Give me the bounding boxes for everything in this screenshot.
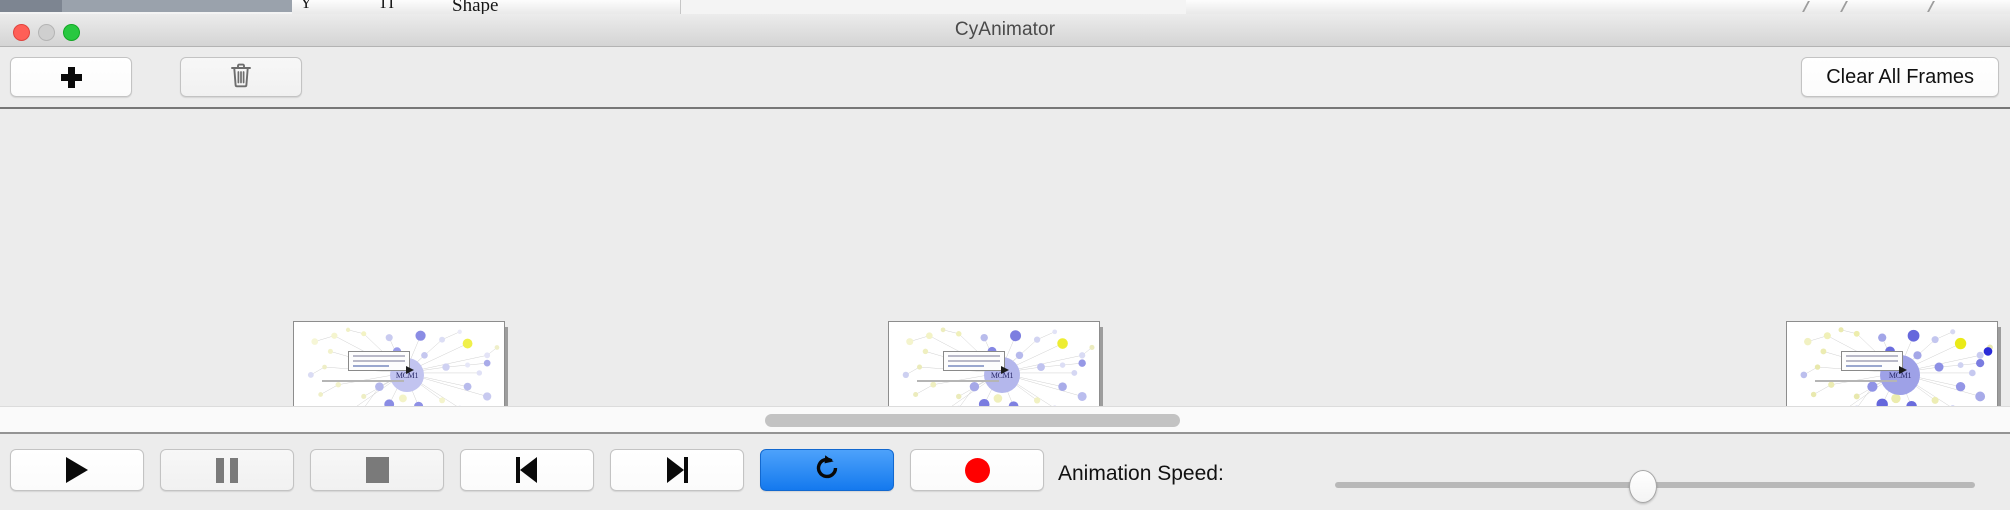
loop-icon: [812, 453, 842, 488]
background-toolbar-dark-2: [62, 0, 292, 12]
tooltip-pointer-3: [1899, 366, 1907, 374]
stop-icon: [366, 457, 389, 483]
frame-caption-2: [917, 380, 999, 382]
scrollbar-thumb[interactable]: [765, 414, 1180, 427]
background-column-6: [1726, 0, 2010, 14]
skip-to-start-icon: [516, 457, 538, 483]
background-window-strip: Y TI Shape: [0, 0, 2010, 15]
skip-to-start-button[interactable]: [460, 449, 594, 491]
background-toolbar-dark: [0, 0, 62, 12]
pause-icon: [216, 458, 238, 483]
title-bar[interactable]: CyAnimator: [0, 14, 2010, 47]
delete-frame-button[interactable]: [180, 57, 302, 97]
loop-button[interactable]: [760, 449, 894, 491]
animation-speed-label: Animation Speed:: [1058, 462, 1224, 486]
frame-caption-1: [322, 380, 404, 382]
frame-thumbnail-2[interactable]: MCM1: [888, 321, 1100, 406]
stop-button[interactable]: [310, 449, 444, 491]
plus-icon: [61, 67, 82, 88]
slider-thumb[interactable]: [1629, 470, 1657, 503]
window-title: CyAnimator: [0, 19, 2010, 41]
frame-thumbnail-3[interactable]: MCM1: [1786, 321, 1998, 406]
node-tooltip-2: [943, 351, 1005, 371]
pause-button[interactable]: [160, 449, 294, 491]
record-icon: [965, 458, 990, 483]
clear-all-frames-button[interactable]: Clear All Frames: [1801, 57, 1999, 97]
record-button[interactable]: [910, 449, 1044, 491]
background-column-4: [1186, 0, 1427, 14]
play-icon: [66, 457, 88, 483]
skip-to-end-icon: [666, 457, 688, 483]
timeline-panel[interactable]: MCM1: [0, 111, 2010, 406]
background-window-label: Shape: [452, 0, 498, 15]
node-tooltip-1: [348, 351, 410, 371]
background-column-5: [1426, 0, 1727, 14]
background-column-3: [500, 0, 681, 14]
cyanimator-window: Y TI Shape CyAnimator: [0, 0, 2010, 510]
timeline-horizontal-scrollbar[interactable]: [0, 406, 2010, 434]
skip-to-end-button[interactable]: [610, 449, 744, 491]
tooltip-pointer-2: [1001, 366, 1009, 374]
add-frame-button[interactable]: [10, 57, 132, 97]
trash-icon: [228, 61, 254, 94]
playback-control-bar: Animation Speed:: [0, 436, 2010, 510]
toolbar: Clear All Frames: [0, 47, 2010, 109]
tooltip-pointer-1: [406, 366, 414, 374]
frame-thumbnail-1[interactable]: MCM1: [293, 321, 505, 406]
animation-speed-slider[interactable]: [1335, 482, 1975, 488]
node-tooltip-3: [1841, 351, 1903, 371]
play-button[interactable]: [10, 449, 144, 491]
frame-caption-3: [1815, 380, 1897, 382]
